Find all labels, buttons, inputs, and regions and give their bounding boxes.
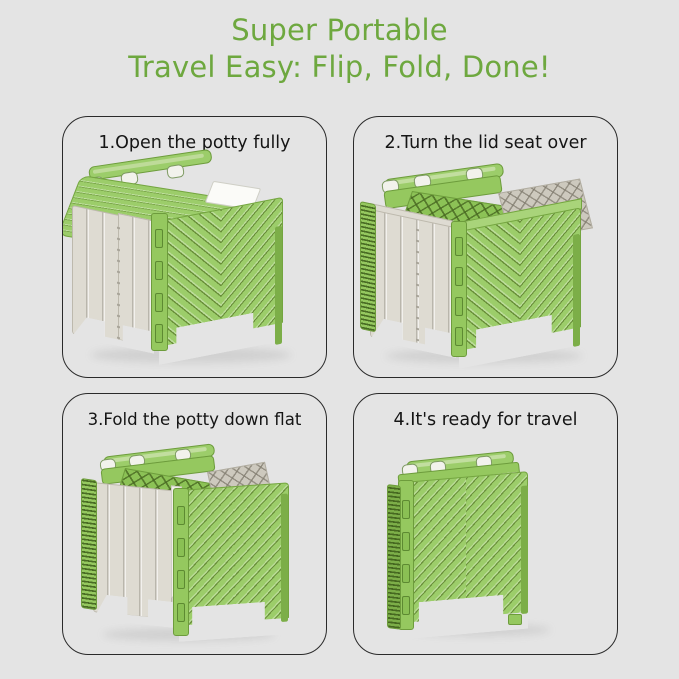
step-2-label: 2.Turn the lid seat over	[354, 133, 617, 153]
step-3-label: 3.Fold the potty down flat	[63, 410, 326, 429]
step-4-label: 4.It's ready for travel	[354, 410, 617, 430]
step-4-illustration	[354, 438, 618, 655]
step-card-3: 3.Fold the potty down flat	[62, 393, 327, 655]
step-2-illustration	[354, 161, 618, 378]
steps-grid: 1.Open the potty fully	[62, 116, 618, 656]
page-title: Super Portable Travel Easy: Flip, Fold, …	[0, 12, 679, 86]
step-1-label: 1.Open the potty fully	[63, 133, 326, 153]
step-card-2: 2.Turn the lid seat over	[353, 116, 618, 378]
infographic-page: Super Portable Travel Easy: Flip, Fold, …	[0, 0, 679, 679]
step-card-1: 1.Open the potty fully	[62, 116, 327, 378]
title-line-1: Super Portable	[0, 12, 679, 49]
step-1-illustration	[63, 161, 327, 378]
step-3-illustration	[63, 438, 327, 655]
step-card-4: 4.It's ready for travel	[353, 393, 618, 655]
title-line-2: Travel Easy: Flip, Fold, Done!	[0, 49, 679, 86]
